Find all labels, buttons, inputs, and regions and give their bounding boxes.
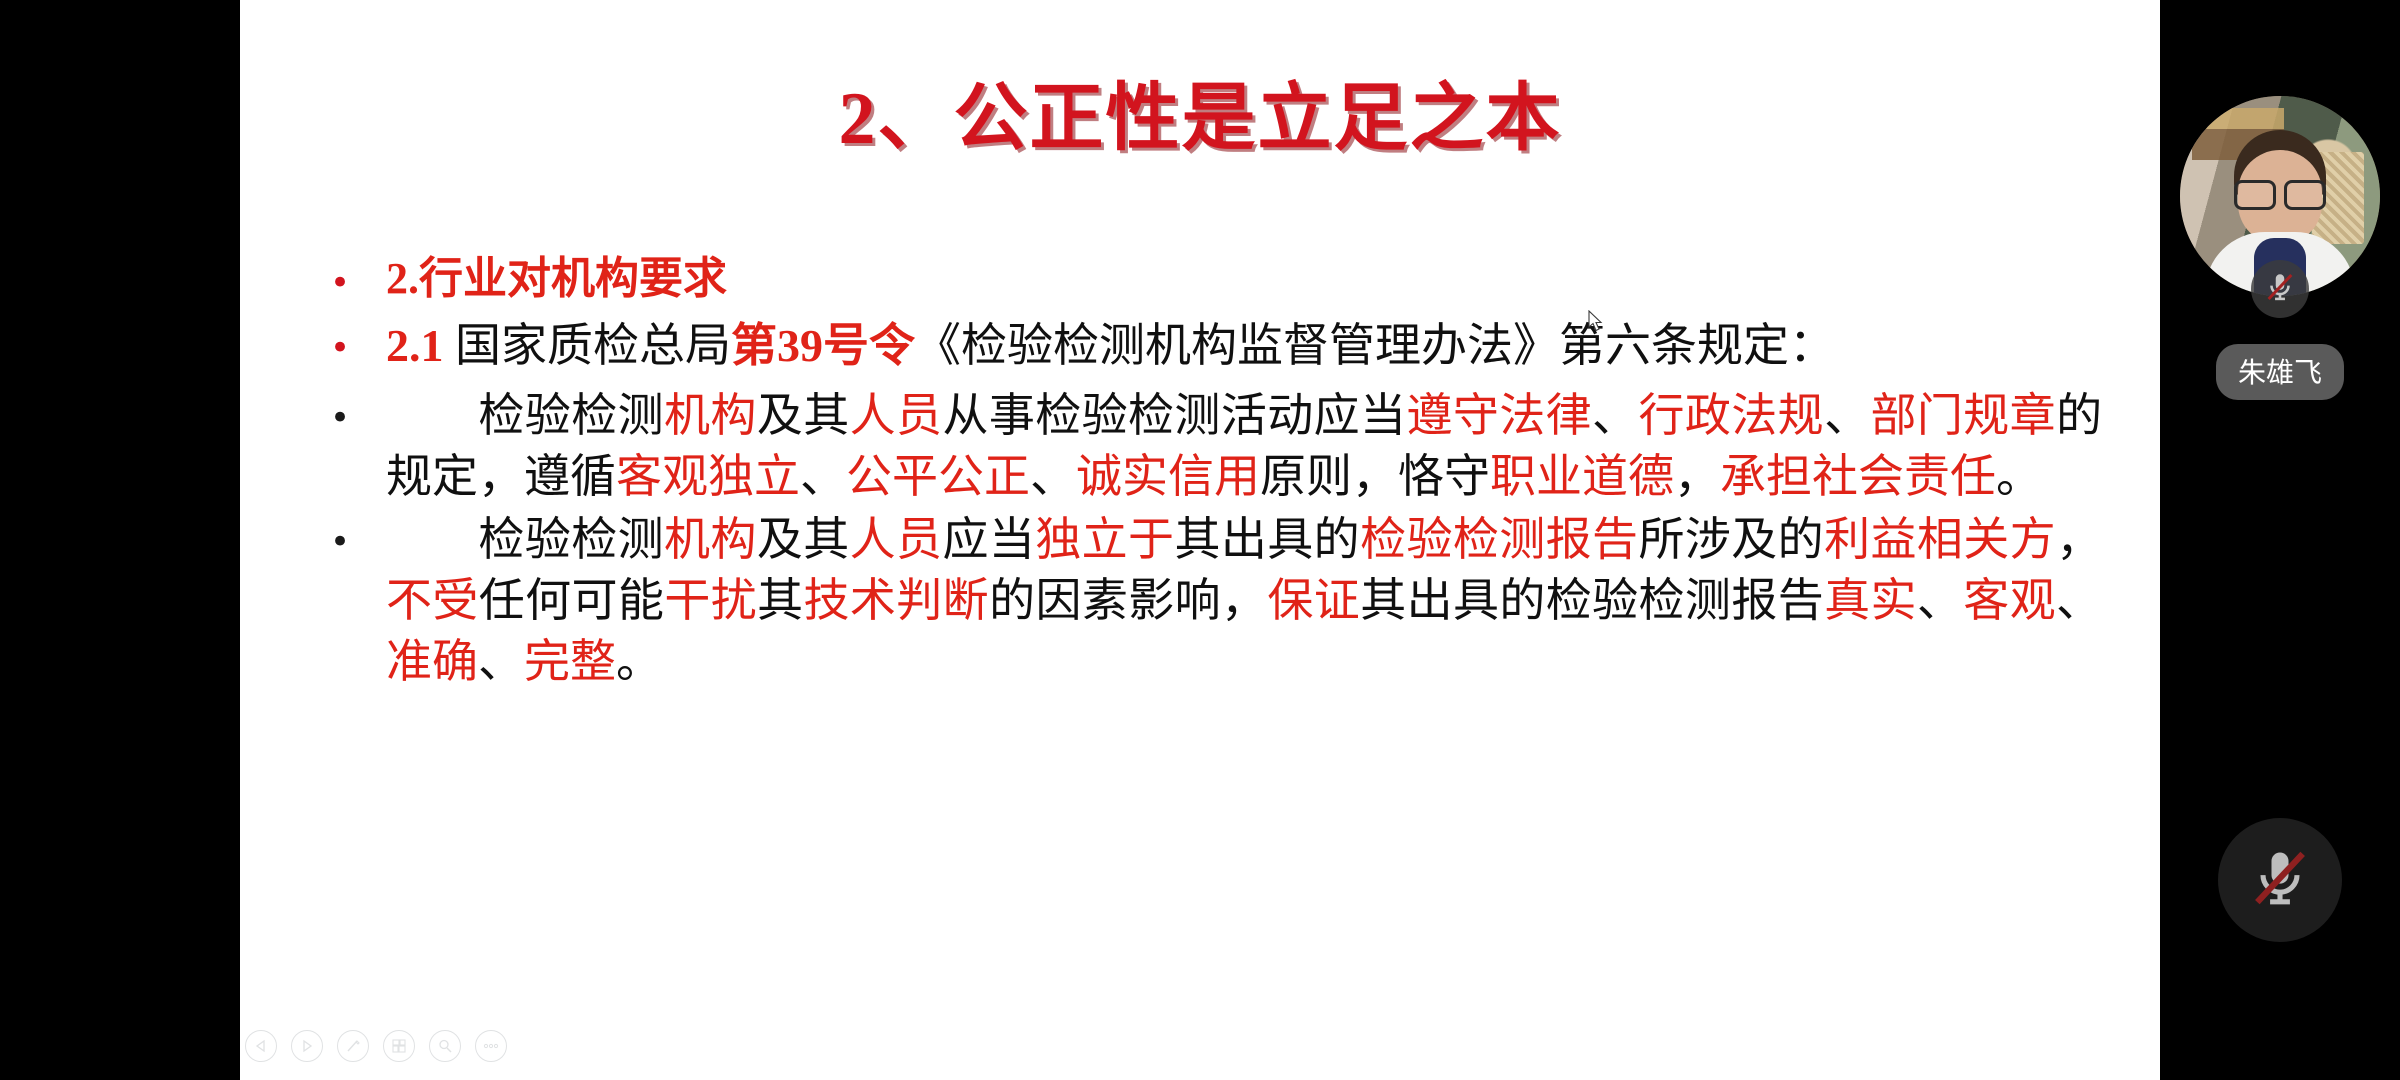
- seg-3-20: 。: [1996, 451, 2042, 502]
- bullet-item-1: • 2.行业对机构要求: [330, 250, 2102, 309]
- seg-4-10: ，: [2056, 514, 2102, 565]
- bullet-marker-icon: •: [330, 315, 386, 365]
- seg-4-19: 真实: [1824, 575, 1917, 626]
- seg-4-20: 、: [1917, 575, 1963, 626]
- seg-4-17: 保证: [1267, 575, 1360, 626]
- bullet-text-4: 检验检测机构及其人员应当独立于其出具的检验检测报告所涉及的利益相关方，不受任何可…: [386, 509, 2102, 693]
- seg-3-6: 、: [1592, 390, 1638, 441]
- seg-4-9: 利益相关方: [1824, 514, 2056, 565]
- bullet-text-2: 2.1 国家质检总局第39号令《检验检测机构监督管理办法》第六条规定：: [386, 315, 2102, 377]
- more-options-icon: [482, 1042, 500, 1050]
- seg-3-19: 承担社会责任: [1720, 451, 1996, 502]
- seg-4-16: 的因素影响，: [989, 575, 1267, 626]
- previous-slide-button[interactable]: [245, 1030, 277, 1062]
- seg-3-8: 、: [1824, 390, 1870, 441]
- bullet-item-3: • 检验检测机构及其人员从事检验检测活动应当遵守法律、行政法规、部门规章的规定，…: [330, 385, 2102, 507]
- next-slide-button[interactable]: [291, 1030, 323, 1062]
- slide-thumbnails-button[interactable]: [383, 1030, 415, 1062]
- seg-3-9: 部门规章: [1870, 390, 2056, 441]
- seg-4-13: 干扰: [664, 575, 757, 626]
- participant-tile[interactable]: [2180, 96, 2380, 296]
- seg-4-5: 独立于: [1035, 514, 1174, 565]
- presenter-toolbar[interactable]: [245, 1030, 507, 1062]
- seg-4-6: 其出具的: [1174, 514, 1360, 565]
- seg-4-26: 。: [616, 636, 662, 687]
- mic-muted-icon: [2263, 270, 2297, 309]
- zoom-magnifier-icon: [437, 1038, 453, 1054]
- video-participant-panel: 朱雄飞: [2160, 0, 2400, 1080]
- bullet-item-4: • 检验检测机构及其人员应当独立于其出具的检验检测报告所涉及的利益相关方，不受任…: [330, 509, 2102, 693]
- seg-4-24: 、: [478, 636, 524, 687]
- pen-annotate-button[interactable]: [337, 1030, 369, 1062]
- seg-4-15: 技术判断: [804, 575, 990, 626]
- presentation-slide: 2、公正性是立足之本 • 2.行业对机构要求 • 2.1 国家质检总局第39号令…: [240, 0, 2160, 1080]
- seg-4-23: 准确: [386, 636, 478, 687]
- seg-2-1: 国家质检总局: [455, 320, 731, 371]
- seg-3-13: 公平公正: [846, 451, 1030, 502]
- seg-3-14: 、: [1030, 451, 1076, 502]
- seg-3-3: 人员: [850, 390, 943, 441]
- slide-thumbnails-icon: [391, 1038, 407, 1054]
- seg-3-15: 诚实信用: [1076, 451, 1260, 502]
- seg-2-3: 《检验检测机构监督管理办法》第六条规定：: [915, 320, 1835, 371]
- slide-body: • 2.行业对机构要求 • 2.1 国家质检总局第39号令《检验检测机构监督管理…: [330, 250, 2102, 694]
- seg-3-7: 行政法规: [1638, 390, 1824, 441]
- seg-3-18: ，: [1674, 451, 1720, 502]
- seg-2-0: 2.1: [386, 320, 455, 371]
- bullet-text-1: 2.行业对机构要求: [386, 250, 2102, 309]
- seg-1-1: 行业对机构要求: [419, 254, 727, 303]
- seg-3-12: 、: [800, 451, 846, 502]
- bullet-marker-icon: •: [330, 385, 386, 435]
- seg-4-22: 、: [2056, 575, 2102, 626]
- seg-3-16: 原则，恪守: [1260, 451, 1490, 502]
- seg-1-0: 2.: [386, 254, 419, 303]
- seg-4-25: 完整: [524, 636, 616, 687]
- pen-annotate-icon: [345, 1038, 361, 1054]
- seg-4-21: 客观: [1963, 575, 2056, 626]
- seg-3-2: 及其: [757, 390, 850, 441]
- zoom-magnifier-button[interactable]: [429, 1030, 461, 1062]
- seg-3-5: 遵守法律: [1406, 390, 1592, 441]
- bullet-marker-icon: •: [330, 250, 386, 300]
- seg-4-14: 其: [757, 575, 803, 626]
- seg-3-4: 从事检验检测活动应当: [942, 390, 1406, 441]
- seg-4-12: 任何可能: [479, 575, 665, 626]
- bullet-marker-icon: •: [330, 509, 386, 559]
- seg-4-4: 应当: [942, 514, 1035, 565]
- previous-slide-icon: [254, 1039, 268, 1053]
- seg-4-11: 不受: [386, 575, 479, 626]
- seg-4-3: 人员: [850, 514, 943, 565]
- seg-4-7: 检验检测报告: [1360, 514, 1638, 565]
- seg-2-2: 第39号令: [731, 320, 915, 371]
- seg-4-18: 其出具的检验检测报告: [1360, 575, 1824, 626]
- slide-title: 2、公正性是立足之本: [240, 58, 2160, 165]
- screen-root: 2、公正性是立足之本 • 2.行业对机构要求 • 2.1 国家质检总局第39号令…: [0, 0, 2400, 1080]
- participant-name-label: 朱雄飞: [2216, 344, 2344, 400]
- mouse-cursor: [1588, 310, 1606, 334]
- seg-4-2: 及其: [757, 514, 850, 565]
- seg-4-8: 所涉及的: [1638, 514, 1824, 565]
- seg-3-11: 客观独立: [616, 451, 800, 502]
- seg-3-1: 机构: [664, 390, 757, 441]
- seg-3-17: 职业道德: [1490, 451, 1674, 502]
- bullet-item-2: • 2.1 国家质检总局第39号令《检验检测机构监督管理办法》第六条规定：: [330, 315, 2102, 377]
- seg-4-0: 检验检测: [478, 514, 664, 565]
- next-slide-icon: [300, 1039, 314, 1053]
- bullet-text-3: 检验检测机构及其人员从事检验检测活动应当遵守法律、行政法规、部门规章的规定，遵循…: [386, 385, 2102, 507]
- avatar-glasses: [2234, 180, 2326, 206]
- seg-4-1: 机构: [664, 514, 757, 565]
- mic-muted-icon: [2246, 844, 2314, 917]
- participant-mic-muted-badge: [2251, 260, 2309, 318]
- more-options-button[interactable]: [475, 1030, 507, 1062]
- mute-toggle-button[interactable]: [2218, 818, 2342, 942]
- seg-3-0: 检验检测: [478, 390, 664, 441]
